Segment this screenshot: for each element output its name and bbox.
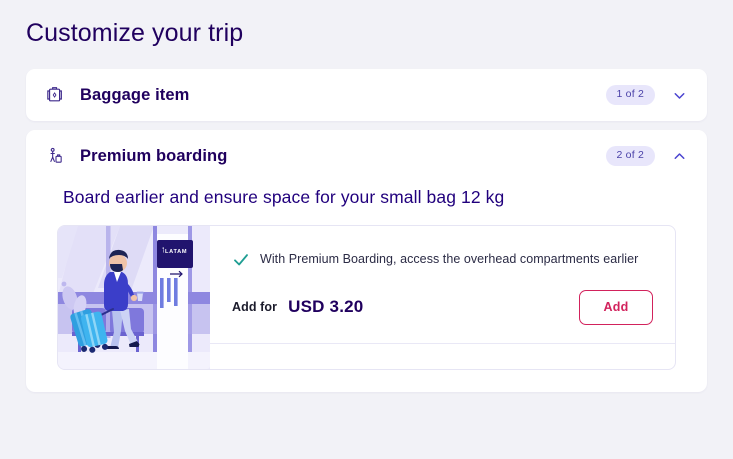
price-row: Add for USD 3.20 Add bbox=[210, 269, 675, 327]
offer-details: With Premium Boarding, access the overhe… bbox=[210, 226, 675, 369]
benefit-row: With Premium Boarding, access the overhe… bbox=[210, 226, 675, 269]
benefit-text: With Premium Boarding, access the overhe… bbox=[260, 251, 638, 267]
chevron-down-icon[interactable] bbox=[668, 84, 690, 106]
customize-trip-page: Customize your trip Baggage item 1 of 2 bbox=[0, 0, 733, 459]
accordion-list: Baggage item 1 of 2 bbox=[0, 69, 733, 392]
check-icon bbox=[232, 251, 250, 269]
page-title: Customize your trip bbox=[0, 10, 733, 50]
premium-boarding-description: Board earlier and ensure space for your … bbox=[44, 182, 689, 225]
chevron-up-icon[interactable] bbox=[668, 145, 690, 167]
svg-text:LATAM: LATAM bbox=[165, 249, 187, 255]
add-for-label: Add for bbox=[232, 300, 277, 314]
add-button[interactable]: Add bbox=[579, 290, 653, 325]
offer-card-premium-boarding: LATAM bbox=[57, 225, 676, 370]
accordion-title-baggage-item: Baggage item bbox=[80, 86, 189, 105]
price-value: USD 3.20 bbox=[288, 297, 363, 317]
accordion-header-premium-boarding[interactable]: Premium boarding 2 of 2 bbox=[26, 130, 707, 182]
accordion-title-premium-boarding: Premium boarding bbox=[80, 147, 227, 166]
status-badge-baggage-item: 1 of 2 bbox=[606, 85, 655, 105]
accordion-header-baggage-item[interactable]: Baggage item 1 of 2 bbox=[26, 69, 707, 121]
status-badge-premium-boarding: 2 of 2 bbox=[606, 146, 655, 166]
accordion-card-premium-boarding: Premium boarding 2 of 2 Board earlier an… bbox=[26, 130, 707, 392]
suitcase-icon bbox=[44, 84, 66, 106]
offer-footer-divider bbox=[210, 343, 675, 369]
passenger-with-luggage-icon bbox=[44, 145, 66, 167]
latam-boarding-gate-illustration: LATAM bbox=[58, 226, 210, 369]
accordion-body-premium-boarding: Board earlier and ensure space for your … bbox=[26, 182, 707, 392]
accordion-card-baggage-item: Baggage item 1 of 2 bbox=[26, 69, 707, 121]
